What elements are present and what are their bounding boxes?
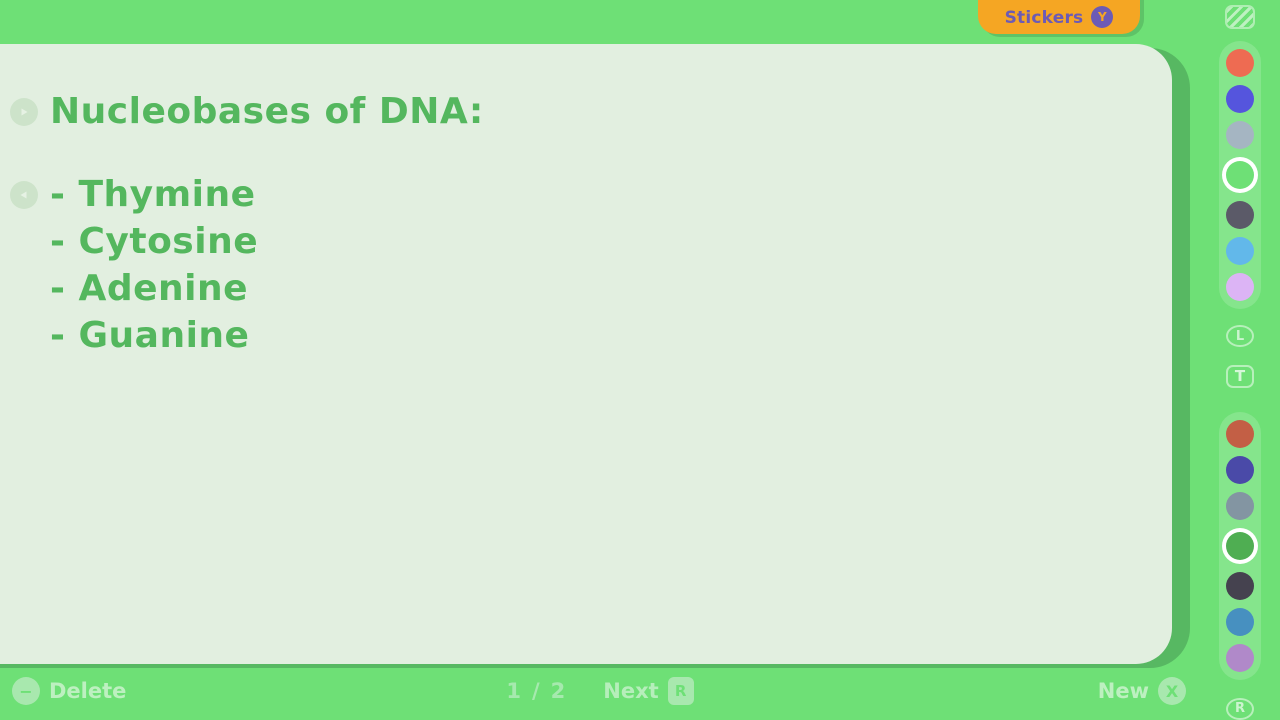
x-circle-icon[interactable]: X [1158, 677, 1186, 705]
new-button[interactable]: New X [1098, 677, 1186, 705]
tool-sidebar: L T R [1200, 0, 1280, 720]
swatch-slate[interactable] [1226, 201, 1254, 229]
swatch-muted-lilac[interactable] [1226, 644, 1254, 672]
l-button-icon[interactable]: L [1226, 325, 1254, 347]
slide-card-content: Nucleobases of DNA: - Thymine - Cytosine… [0, 44, 1172, 664]
swatch-muted-sky[interactable] [1226, 608, 1254, 636]
swatch-gray[interactable] [1226, 121, 1254, 149]
slide-line-title[interactable]: Nucleobases of DNA: [10, 88, 1172, 135]
page-current: 1 [506, 679, 521, 703]
swatch-coral[interactable] [1226, 49, 1254, 77]
y-button-icon[interactable]: Y [1091, 6, 1113, 28]
stickers-tab-label: Stickers [1005, 8, 1084, 28]
swatch-muted-green-selected[interactable] [1226, 532, 1254, 560]
new-button-label: New [1098, 679, 1149, 703]
diagonal-stripes-icon[interactable] [1225, 5, 1255, 29]
swatch-muted-gray[interactable] [1226, 492, 1254, 520]
next-button-label: Next [603, 679, 658, 703]
slide-card: Nucleobases of DNA: - Thymine - Cytosine… [0, 44, 1172, 664]
slide-title-text: Nucleobases of DNA: [50, 88, 484, 135]
play-right-icon[interactable] [10, 98, 38, 126]
stripes-pattern [1227, 7, 1253, 27]
palette-bottom [1219, 412, 1261, 680]
play-left-icon[interactable] [10, 181, 38, 209]
next-button[interactable]: Next R [603, 677, 693, 705]
swatch-blue[interactable] [1226, 85, 1254, 113]
text-tool-icon[interactable]: T [1226, 365, 1254, 387]
page-total: 2 [551, 679, 566, 703]
bottom-action-bar: − Delete 1 / 2 Next R New X [0, 662, 1200, 720]
swatch-muted-slate[interactable] [1226, 572, 1254, 600]
r-button-icon[interactable]: R [1226, 698, 1254, 720]
stickers-tab[interactable]: Stickers Y [978, 0, 1140, 34]
swatch-sky[interactable] [1226, 237, 1254, 265]
palette-top [1219, 41, 1261, 309]
slide-line-list[interactable]: - Thymine - Cytosine - Adenine - Guanine [10, 171, 1172, 359]
swatch-muted-coral[interactable] [1226, 420, 1254, 448]
page-separator: / [532, 679, 540, 703]
page-counter: 1 / 2 [506, 679, 565, 703]
r-key-icon[interactable]: R [668, 677, 694, 705]
swatch-lilac[interactable] [1226, 273, 1254, 301]
swatch-muted-blue[interactable] [1226, 456, 1254, 484]
swatch-green-selected[interactable] [1226, 161, 1254, 189]
slide-list-text: - Thymine - Cytosine - Adenine - Guanine [50, 171, 258, 359]
page-navigation: 1 / 2 Next R [0, 677, 1200, 705]
